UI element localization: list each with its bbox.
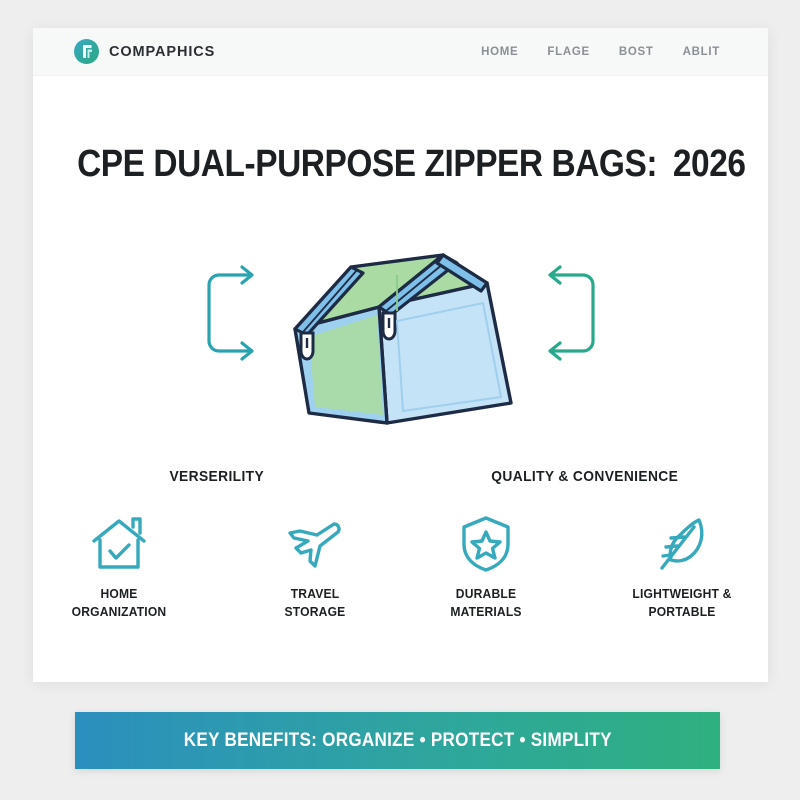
site-header: COMPAPHICS HOME FLAGE BOST ABLIT — [33, 28, 768, 76]
brand[interactable]: COMPAPHICS — [74, 39, 215, 64]
feature-label-home-organization: HOME ORGANIZATION — [54, 585, 184, 620]
feature-list-quality-convenience: DURABLE MATERIALS LIGHTW — [401, 509, 769, 620]
nav-link-ablit[interactable]: ABLIT — [683, 46, 720, 58]
hero-illustration — [33, 233, 768, 433]
shield-star-icon — [416, 509, 556, 579]
key-benefits-banner: KEY BENEFITS: ORGANIZE • PROTECT • SIMPL… — [75, 712, 720, 769]
feature-home-organization[interactable]: HOME ORGANIZATION — [49, 509, 189, 620]
feature-label-lightweight-portable: LIGHTWEIGHT & PORTABLE — [617, 585, 747, 620]
feature-label-travel-storage: TRAVEL STORAGE — [250, 585, 380, 620]
feature-list-verserility: HOME ORGANIZATION TRAVEL STORAGE — [33, 509, 401, 620]
leaf-circle-logo-icon — [74, 39, 99, 64]
content-card: COMPAPHICS HOME FLAGE BOST ABLIT CPE DUA… — [33, 28, 768, 682]
section-quality-convenience: QUALITY & CONVENIENCE DURABLE MATERIALS — [401, 468, 769, 620]
bracket-arrows-left-icon — [550, 267, 593, 359]
section-title-quality-convenience: QUALITY & CONVENIENCE — [415, 468, 753, 485]
nav-link-home[interactable]: HOME — [481, 46, 518, 58]
house-check-icon — [49, 509, 189, 579]
feather-icon — [612, 509, 752, 579]
airplane-icon — [245, 509, 385, 579]
infographic-page: COMPAPHICS HOME FLAGE BOST ABLIT CPE DUA… — [0, 0, 800, 800]
main-nav: HOME FLAGE BOST ABLIT — [481, 46, 720, 58]
feature-lightweight-portable[interactable]: LIGHTWEIGHT & PORTABLE — [612, 509, 752, 620]
page-title-year: 2026 — [673, 143, 746, 185]
feature-label-durable-materials: DURABLE MATERIALS — [421, 585, 551, 620]
feature-travel-storage[interactable]: TRAVEL STORAGE — [245, 509, 385, 620]
section-title-verserility: VERSERILITY — [48, 468, 386, 485]
zipper-pull-right — [383, 313, 395, 339]
page-title-text: CPE DUAL-PURPOSE ZIPPER BAGS: — [77, 143, 657, 185]
bracket-arrows-right-icon — [209, 267, 252, 359]
zipper-pull-left — [301, 333, 313, 359]
page-title: CPE DUAL-PURPOSE ZIPPER BAGS:2026 — [77, 143, 724, 186]
key-benefits-text: KEY BENEFITS: ORGANIZE • PROTECT • SIMPL… — [183, 730, 611, 752]
section-verserility: VERSERILITY HOME ORGANIZATION — [33, 468, 401, 620]
feature-sections: VERSERILITY HOME ORGANIZATION — [33, 468, 768, 620]
nav-link-flage[interactable]: FLAGE — [547, 46, 589, 58]
brand-name: COMPAPHICS — [109, 44, 215, 60]
zipper-bag — [295, 255, 511, 423]
nav-link-bost[interactable]: BOST — [619, 46, 654, 58]
isometric-zipper-bag-illustration — [191, 233, 611, 433]
feature-durable-materials[interactable]: DURABLE MATERIALS — [416, 509, 556, 620]
